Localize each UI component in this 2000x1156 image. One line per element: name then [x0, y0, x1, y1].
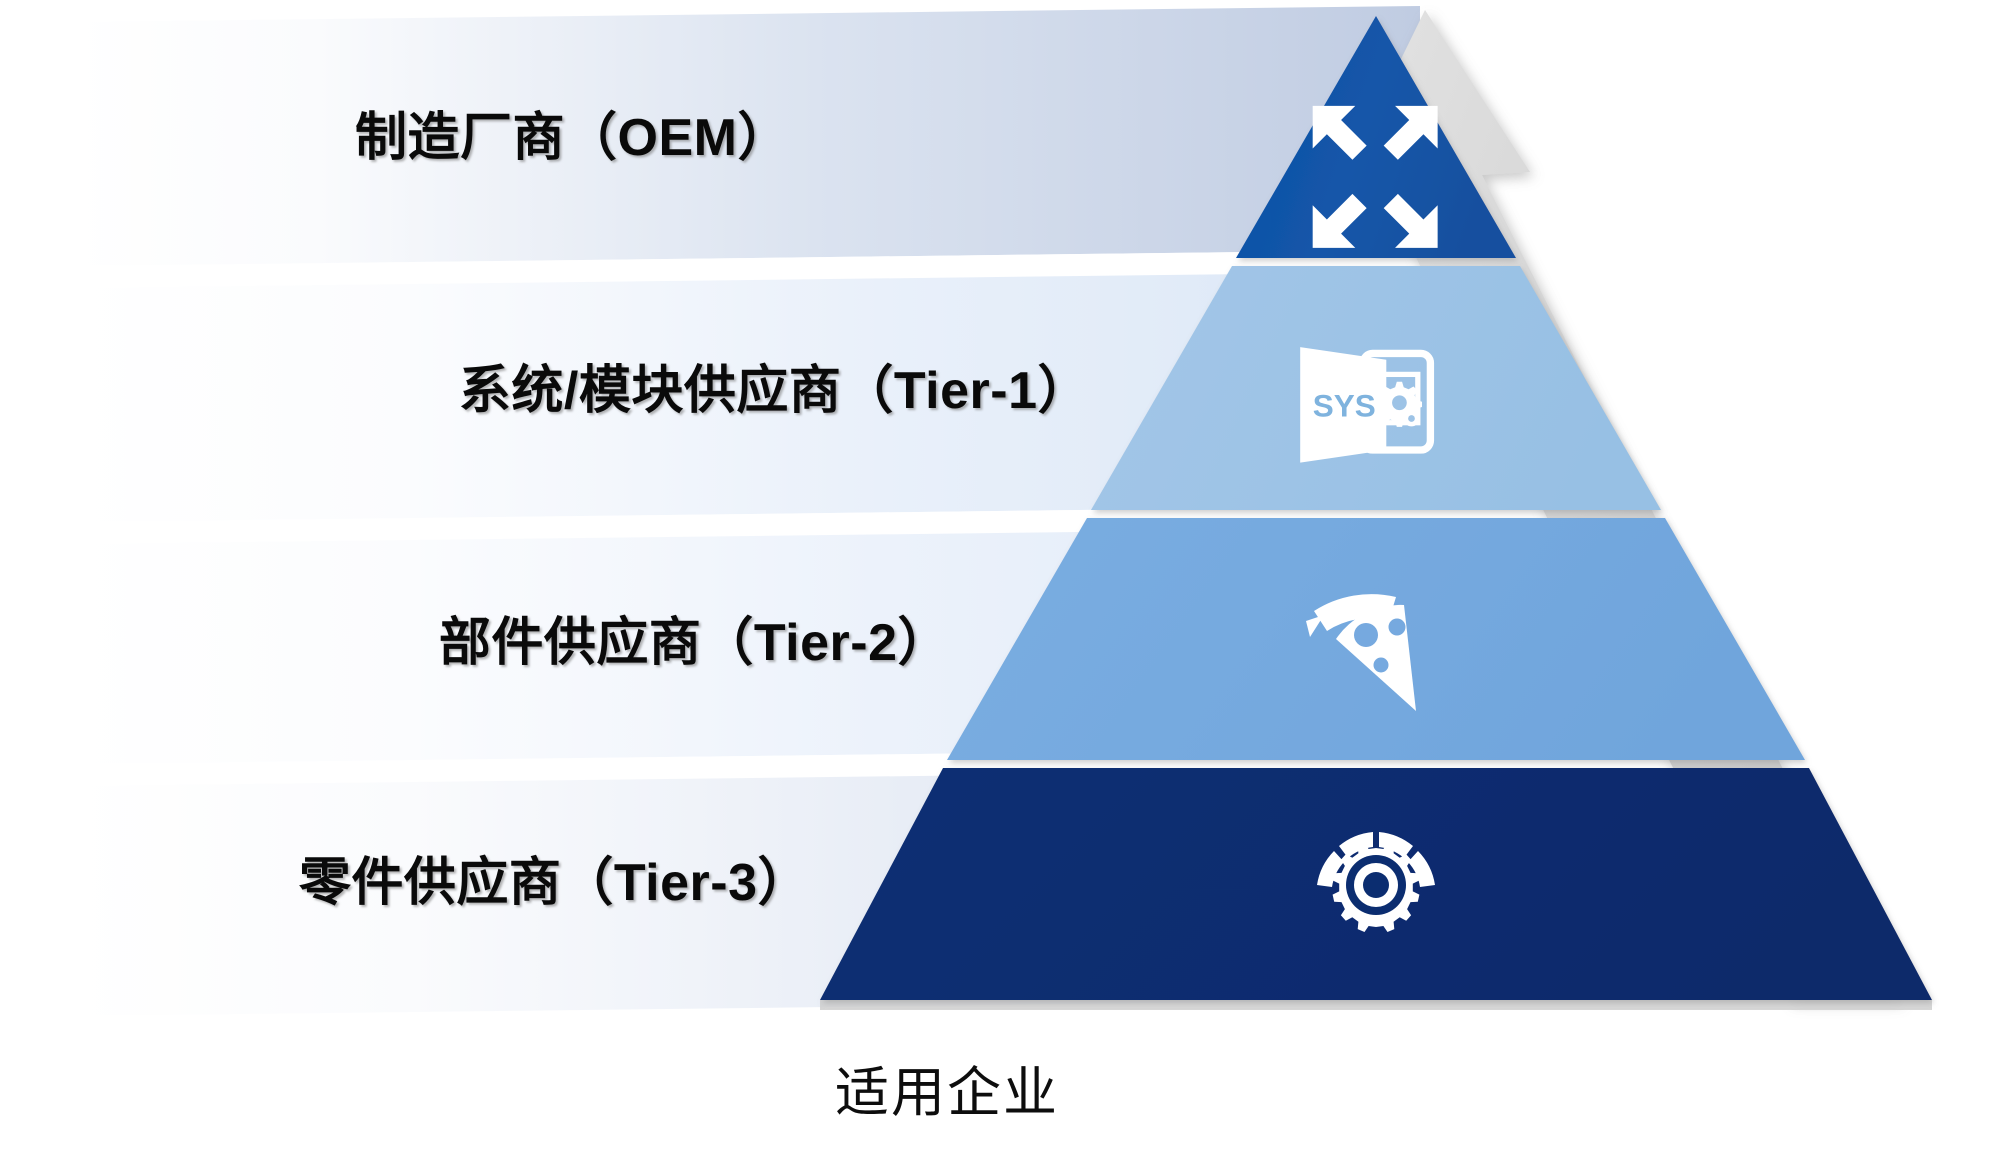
tier-label-tier-1: 系统/模块供应商（Tier-1）: [459, 348, 1090, 423]
sys-module-panel-icon: SYS: [1300, 347, 1430, 463]
component-slice-icon: [1306, 594, 1416, 711]
four-way-expand-arrows-icon: [1313, 106, 1438, 248]
tier-label-tier-3: 零件供应商（Tier-3）: [299, 840, 810, 915]
diagram-caption: 适用企业: [835, 1048, 1059, 1127]
tier-label-tier-2: 部件供应商（Tier-2）: [439, 600, 950, 675]
tier-label-oem: 制造厂商（OEM）: [355, 95, 790, 170]
tier-icons-layer: SYS: [0, 0, 2000, 1156]
sys-icon-text: SYS: [1313, 387, 1376, 423]
gear-cog-icon: [1317, 832, 1435, 932]
pyramid-diagram-canvas: SYS: [0, 0, 2000, 1156]
